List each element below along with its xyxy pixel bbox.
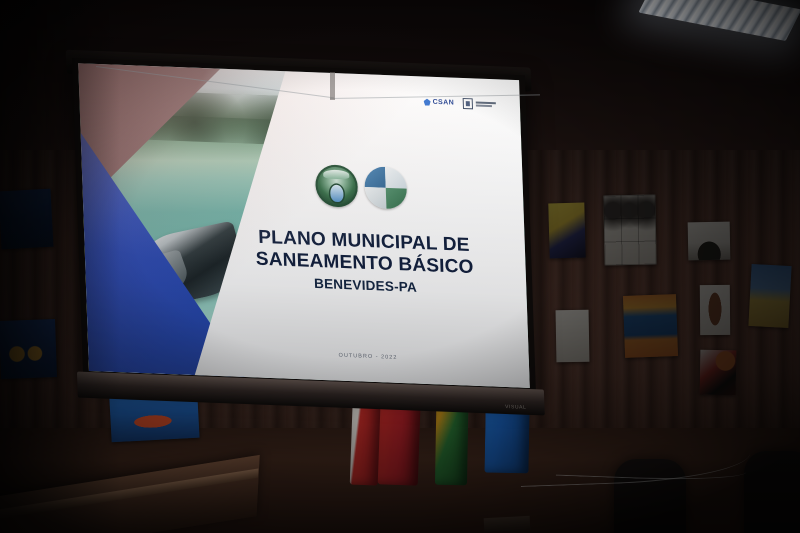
artwork-portrait-grid (603, 195, 656, 266)
artwork-blue-figures (0, 319, 57, 379)
screen-frame: CSAN (72, 58, 536, 395)
csan-logo: CSAN (424, 98, 455, 106)
emblem-quadrant-1 (364, 166, 386, 188)
emblem-quadrant-3 (365, 187, 387, 209)
slide-emblem-row (315, 165, 408, 210)
csan-logo-label: CSAN (433, 99, 455, 107)
chair-back-right (744, 451, 800, 533)
prefeitura-crest-icon (463, 98, 473, 109)
artwork-sketch-white (556, 310, 590, 363)
chair-back-left (614, 459, 686, 533)
municipal-coat-of-arms (315, 165, 359, 209)
artwork-blue-yellow-field (748, 264, 791, 328)
emblem-quadrant-2 (385, 167, 407, 189)
artwork-red-black-collage (700, 350, 737, 396)
floor-object (484, 516, 531, 532)
emblem-quadrant-4 (386, 188, 408, 210)
screen-mount-bracket (330, 72, 335, 100)
presentation-slide: CSAN (78, 63, 530, 388)
sanitation-quadrant-emblem (364, 166, 408, 210)
artwork-orange-blue-landscape (623, 294, 678, 358)
csan-mark-icon (424, 98, 431, 105)
artwork-figure-brown (700, 285, 730, 335)
slide-title-block: PLANO MUNICIPAL DE SANEAMENTO BÁSICO BEN… (225, 226, 505, 298)
artwork-yellow-abstract (548, 203, 585, 259)
prefeitura-logo (463, 98, 496, 110)
projector-screen: CSAN (72, 58, 536, 395)
artwork-dark-blue-panel (0, 189, 53, 250)
artwork-stage-scene (688, 222, 731, 261)
screen-brand-label: VISUAL (505, 404, 527, 411)
presentation-room-photo: CSAN (0, 0, 800, 533)
prefeitura-wordmark (476, 101, 496, 107)
